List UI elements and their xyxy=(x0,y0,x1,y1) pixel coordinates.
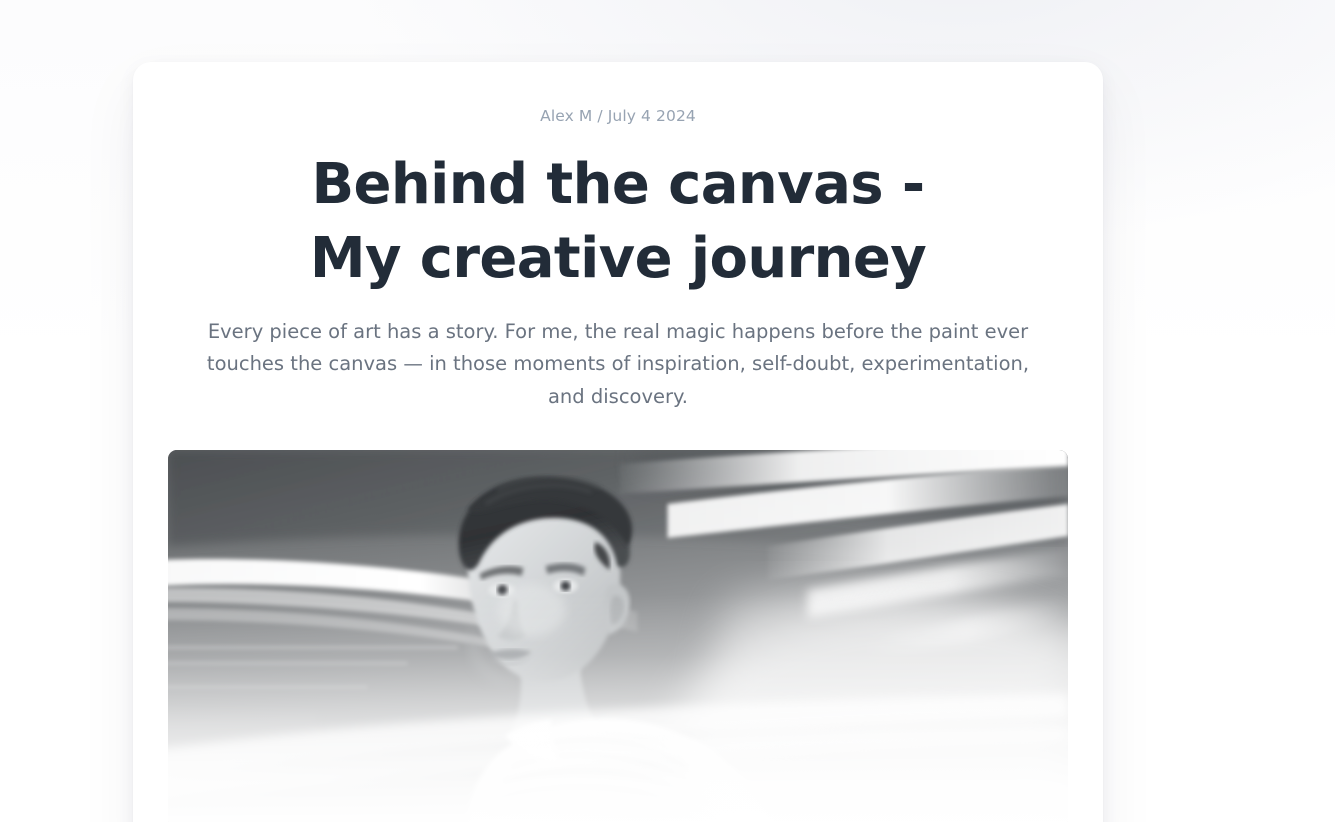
article-card: Alex M / July 4 2024 Behind the canvas -… xyxy=(133,62,1103,822)
hero-photo-graphic xyxy=(168,450,1068,822)
page-title-line-2: My creative journey xyxy=(189,222,1047,296)
page-title-line-1: Behind the canvas - xyxy=(189,148,1047,222)
hero-photo xyxy=(168,450,1068,822)
page-title: Behind the canvas - My creative journey xyxy=(189,148,1047,296)
article-subtitle: Every piece of art has a story. For me, … xyxy=(189,316,1047,414)
hero-image xyxy=(168,450,1068,822)
article-header: Alex M / July 4 2024 Behind the canvas -… xyxy=(133,62,1103,414)
article-byline: Alex M / July 4 2024 xyxy=(189,106,1047,127)
